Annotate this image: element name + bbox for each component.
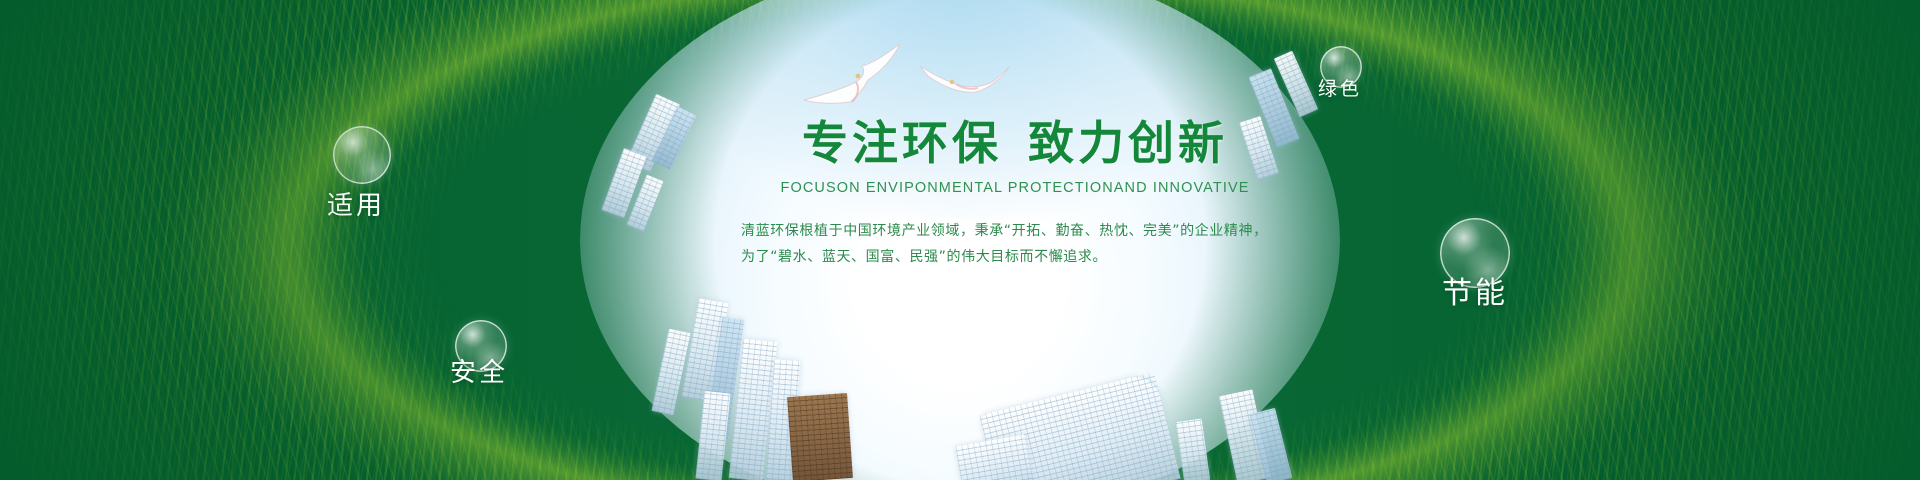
hero-banner: 绿色 适用 节能 安全 专注环保致力创新 FOCUSON ENVIPONMENT… [0,0,1920,480]
edge-vignette [0,0,1920,480]
